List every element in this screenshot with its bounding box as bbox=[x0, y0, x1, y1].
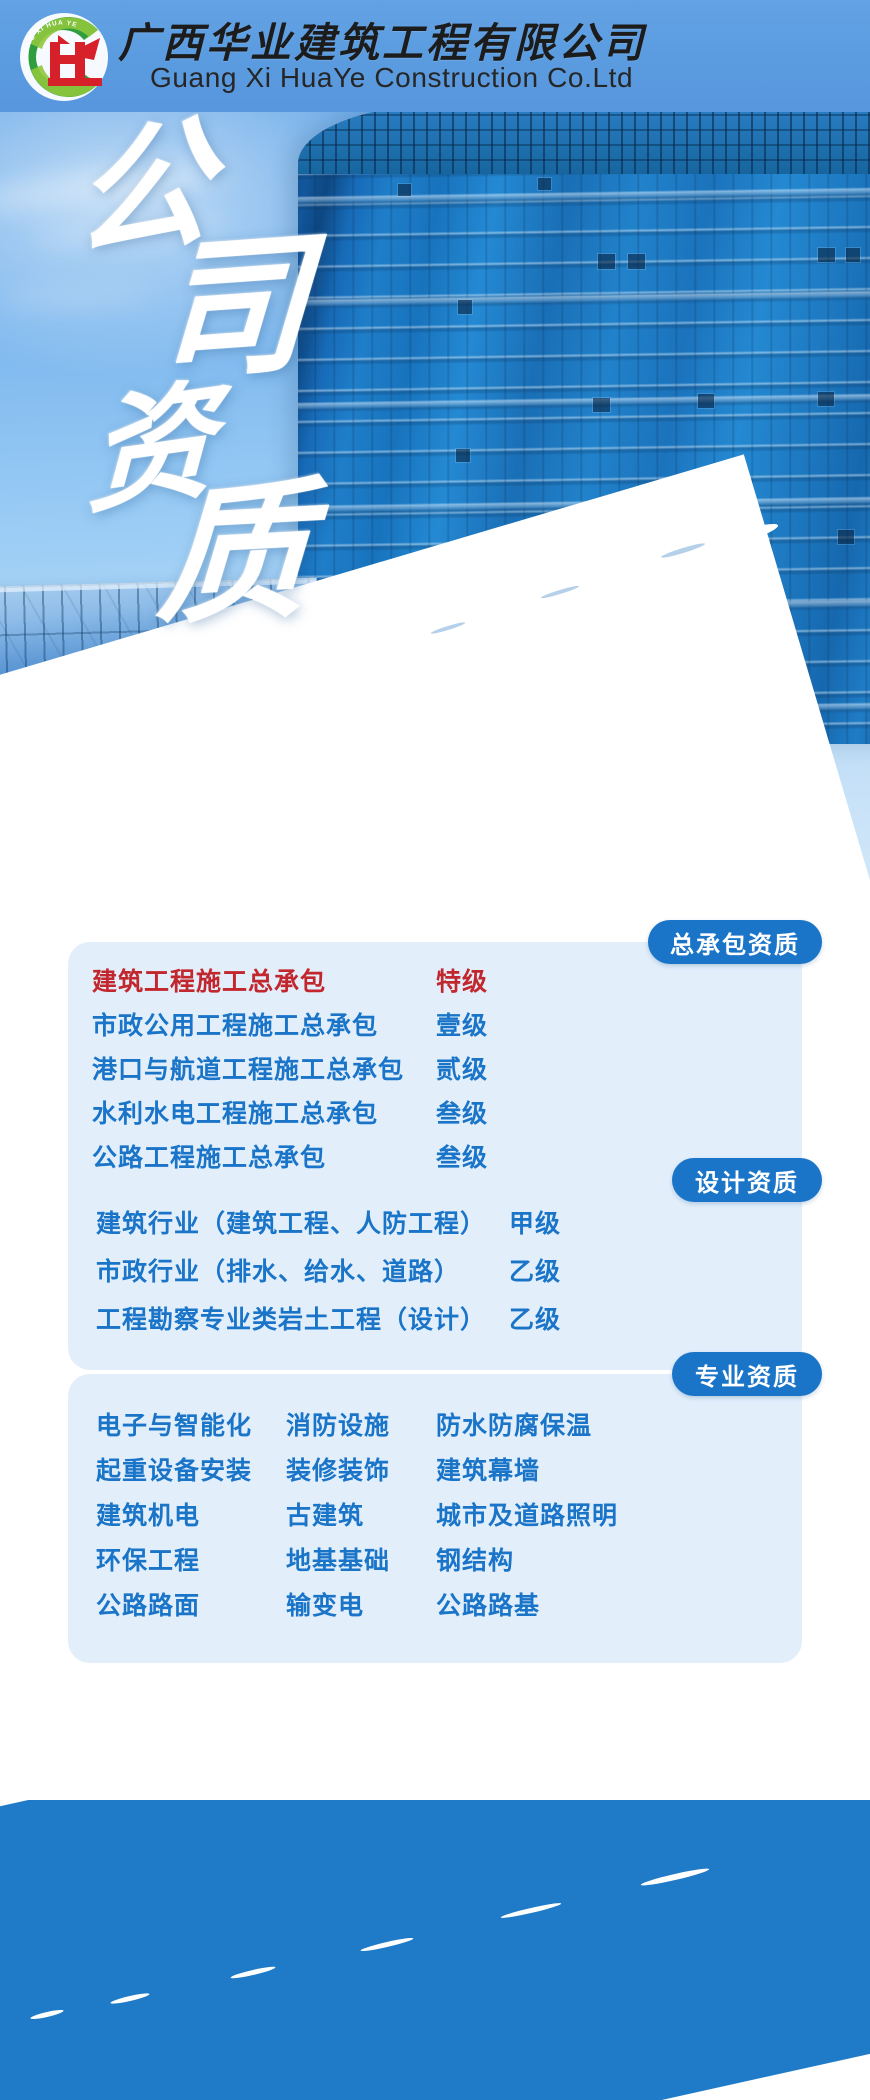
qualification-name: 市政行业（排水、给水、道路） bbox=[96, 1252, 496, 1288]
card-design-qualification: 建筑行业（建筑工程、人防工程） 甲级 市政行业（排水、给水、道路） 乙级 工程勘… bbox=[68, 1180, 802, 1370]
hero-banner: 公 司 资 质 bbox=[0, 112, 870, 902]
table-row: 市政行业（排水、给水、道路） 乙级 bbox=[68, 1252, 802, 1300]
company-logo-icon: GUANG XI HUA YE bbox=[14, 8, 114, 106]
qualification-name: 建筑工程施工总承包 bbox=[92, 962, 422, 998]
company-name-chinese: 广西华业建筑工程有限公司 bbox=[118, 9, 646, 69]
qualification-name: 建筑行业（建筑工程、人防工程） bbox=[96, 1204, 496, 1240]
list-item: 消防设施 bbox=[286, 1404, 436, 1449]
qualification-name: 水利水电工程施工总承包 bbox=[92, 1094, 422, 1130]
tower-roof-trellis bbox=[298, 112, 870, 174]
qualification-grade: 甲级 bbox=[496, 1204, 574, 1240]
qualification-grade: 特级 bbox=[422, 962, 502, 998]
list-item: 公路路面 bbox=[96, 1584, 286, 1629]
table-row: 建筑工程施工总承包 特级 bbox=[68, 962, 802, 1006]
section-badge-professional: 专业资质 bbox=[672, 1352, 822, 1396]
list-item: 起重设备安装 bbox=[96, 1449, 286, 1494]
footer-blue-diagonal bbox=[0, 1800, 870, 2100]
qualifications-content: 总承包资质 建筑工程施工总承包 特级 市政公用工程施工总承包 壹级 港口与航道工… bbox=[0, 902, 870, 1802]
qualification-grade: 壹级 bbox=[422, 1006, 502, 1042]
header-band: GUANG XI HUA YE 广西华业建筑工程有限公司 Guang Xi Hu… bbox=[0, 0, 870, 112]
qualification-name: 港口与航道工程施工总承包 bbox=[92, 1050, 422, 1086]
footer-brush-band bbox=[0, 1800, 870, 2100]
card-professional-qualification: 电子与智能化 消防设施 防水防腐保温 起重设备安装 装修装饰 建筑幕墙 建筑机电… bbox=[68, 1374, 802, 1663]
list-item: 建筑幕墙 bbox=[436, 1449, 802, 1494]
qualification-name: 工程勘察专业类岩土工程（设计） bbox=[96, 1300, 496, 1336]
list-item: 公路路基 bbox=[436, 1584, 802, 1629]
qualification-poster: GUANG XI HUA YE 广西华业建筑工程有限公司 Guang Xi Hu… bbox=[0, 0, 870, 2100]
list-item: 钢结构 bbox=[436, 1539, 802, 1584]
list-item: 输变电 bbox=[286, 1584, 436, 1629]
table-row: 市政公用工程施工总承包 壹级 bbox=[68, 1006, 802, 1050]
section-badge-design: 设计资质 bbox=[672, 1158, 822, 1202]
qualification-grade: 叁级 bbox=[422, 1094, 502, 1130]
table-row: 水利水电工程施工总承包 叁级 bbox=[68, 1094, 802, 1138]
list-item: 防水防腐保温 bbox=[436, 1404, 802, 1449]
table-row: 工程勘察专业类岩土工程（设计） 乙级 bbox=[68, 1300, 802, 1348]
list-item: 地基基础 bbox=[286, 1539, 436, 1584]
hero-title-char-2: 司 bbox=[153, 238, 312, 383]
list-item: 电子与智能化 bbox=[96, 1404, 286, 1449]
qualification-grade: 乙级 bbox=[496, 1252, 574, 1288]
qualification-grade: 叁级 bbox=[422, 1138, 502, 1174]
table-row: 建筑行业（建筑工程、人防工程） 甲级 bbox=[68, 1204, 802, 1252]
qualification-name: 市政公用工程施工总承包 bbox=[92, 1006, 422, 1042]
qualification-name: 公路工程施工总承包 bbox=[92, 1138, 422, 1174]
list-item: 建筑机电 bbox=[96, 1494, 286, 1539]
table-row: 港口与航道工程施工总承包 贰级 bbox=[68, 1050, 802, 1094]
hero-title-char-4: 质 bbox=[155, 486, 312, 626]
professional-qualification-grid: 电子与智能化 消防设施 防水防腐保温 起重设备安装 装修装饰 建筑幕墙 建筑机电… bbox=[68, 1404, 802, 1629]
list-item: 装修装饰 bbox=[286, 1449, 436, 1494]
company-name-english: Guang Xi HuaYe Construction Co.Ltd bbox=[150, 62, 633, 94]
section-badge-general-contracting: 总承包资质 bbox=[648, 920, 822, 964]
qualification-grade: 乙级 bbox=[496, 1300, 574, 1336]
list-item: 环保工程 bbox=[96, 1539, 286, 1584]
list-item: 古建筑 bbox=[286, 1494, 436, 1539]
list-item: 城市及道路照明 bbox=[436, 1494, 802, 1539]
qualification-grade: 贰级 bbox=[422, 1050, 502, 1086]
